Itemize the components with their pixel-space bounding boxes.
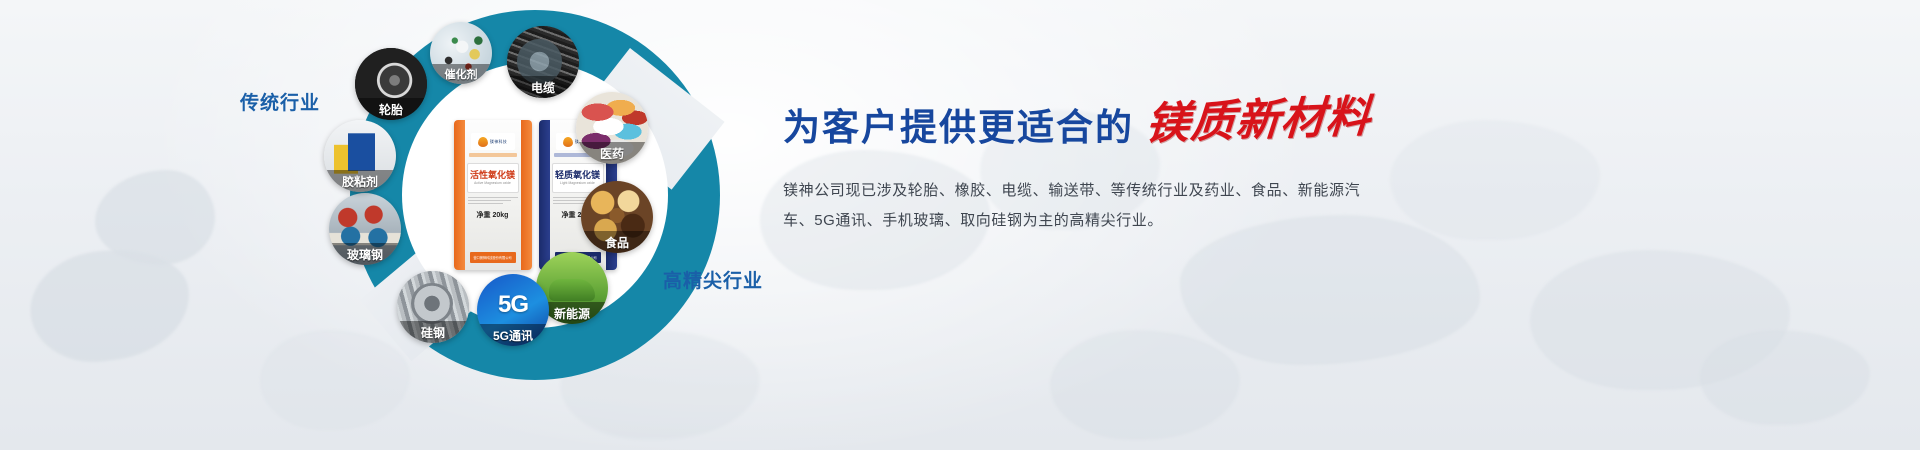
node-label: 玻璃钢 [329,243,401,265]
headline: 为客户提供更适合的 镁质新材料 [783,104,1603,146]
node-medicine[interactable]: 医药 [576,92,648,164]
product-name: 活性氧化镁 [470,171,515,180]
node-adhesive[interactable]: 胶粘剂 [324,120,396,192]
net-weight-label: 净重 [477,212,491,219]
node-label: 催化剂 [430,64,492,84]
headline-highlight: 镁质新材料 [1144,96,1373,146]
industry-circle-infographic: 镁神科技 活性氧化镁 Active Magnesium oxide 净重 20k… [300,0,820,450]
product-bag-active-magnesium-oxide: 镁神科技 活性氧化镁 Active Magnesium oxide 净重 20k… [454,120,532,270]
tag-high-tech-industry: 高精尖行业 [663,266,763,293]
node-label: 医药 [576,142,648,164]
banner-copy: 为客户提供更适合的 镁质新材料 镁神公司现已涉及轮胎、橡胶、电缆、输送带、等传统… [783,104,1603,236]
node-5g[interactable]: 5G通讯 [477,274,549,346]
flame-logo-icon [563,137,573,147]
flame-logo-icon [478,137,488,147]
node-label: 轮胎 [355,98,427,120]
node-food[interactable]: 食品 [581,181,653,253]
node-cable[interactable]: 电缆 [507,26,579,98]
node-label: 食品 [581,231,653,253]
node-label: 电缆 [507,76,579,98]
node-frp[interactable]: 玻璃钢 [329,193,401,265]
net-weight-value: 20kg [492,212,508,219]
product-name: 轻质氧化镁 [555,171,600,180]
brand-logo: 镁神科技 [471,133,515,150]
node-catalyst[interactable]: 催化剂 [430,22,492,84]
net-weight-label: 净重 [562,212,576,219]
banner-paragraph: 镁神公司现已涉及轮胎、橡胶、电缆、输送带、等传统行业及药业、食品、新能源汽车、5… [783,176,1383,236]
product-name-en: Active Magnesium oxide [474,181,511,185]
node-label: 胶粘剂 [324,170,396,192]
headline-primary: 为客户提供更适合的 [783,109,1134,146]
brand-name: 镁神科技 [490,139,507,145]
node-silicon-steel[interactable]: 硅钢 [397,271,469,343]
company-name: 营口镁神科技股份有限公司 [470,252,516,263]
node-label: 硅钢 [397,321,469,343]
node-tire[interactable]: 轮胎 [355,48,427,120]
tag-traditional-industry: 传统行业 [240,88,320,115]
node-label: 5G通讯 [477,324,549,346]
